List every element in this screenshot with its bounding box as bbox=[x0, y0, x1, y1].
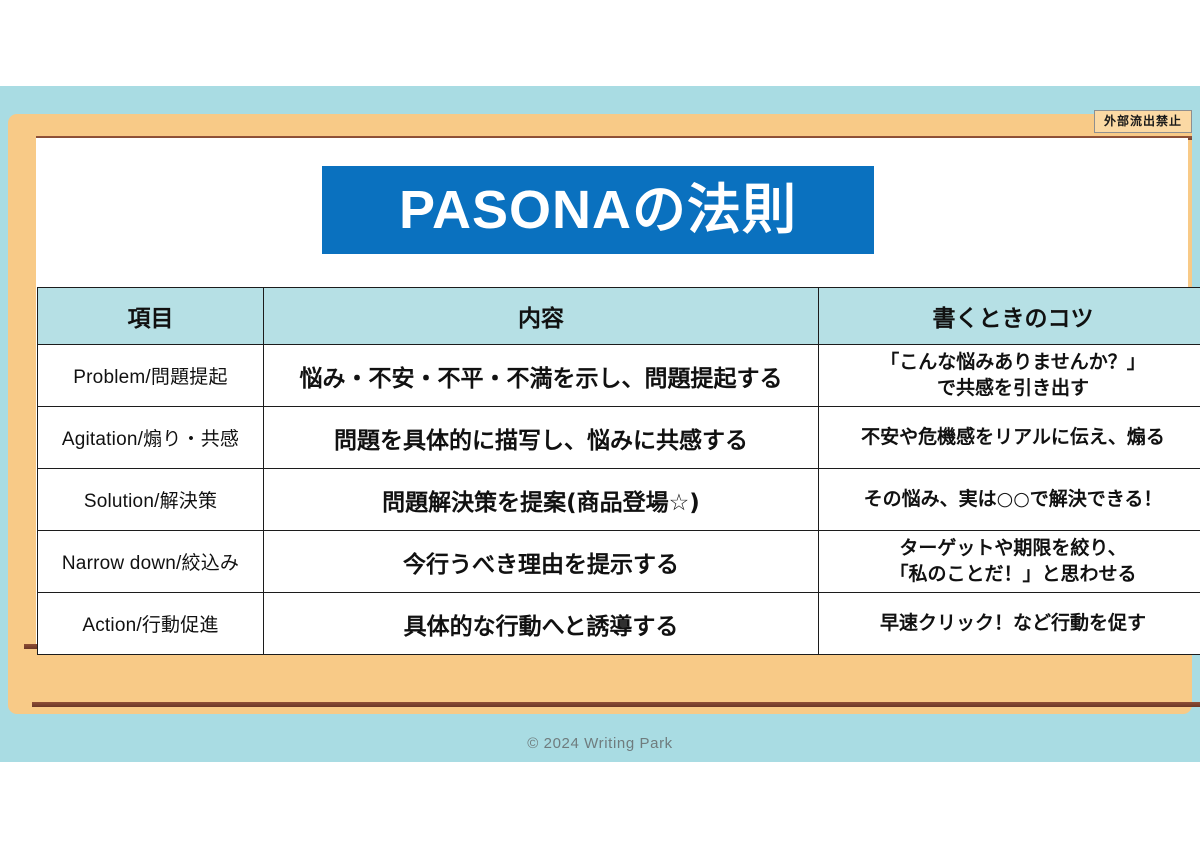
cell-tips-line2: 「私のことだ！」と思わせる bbox=[825, 562, 1200, 588]
cell-tips-line1: 不安や危機感をリアルに伝え、煽る bbox=[861, 426, 1165, 448]
cell-tips-line1: その悩み、実は○○で解決できる！ bbox=[864, 488, 1163, 510]
cell-item: Solution/解決策 bbox=[38, 469, 264, 531]
cell-tips: ターゲットや期限を絞り、 「私のことだ！」と思わせる bbox=[819, 531, 1200, 593]
whiteboard-bottom-rail bbox=[32, 702, 1200, 707]
cell-description: 問題解決策を提案(商品登場☆) bbox=[264, 469, 819, 531]
cell-tips: 「こんな悩みありませんか？」 で共感を引き出す bbox=[819, 345, 1200, 407]
cell-tips: 不安や危機感をリアルに伝え、煽る bbox=[819, 407, 1200, 469]
table-row: Narrow down/絞込み 今行うべき理由を提示する ターゲットや期限を絞り… bbox=[38, 531, 1200, 593]
cell-tips-line1: ターゲットや期限を絞り、 bbox=[899, 537, 1126, 559]
table-row: Action/行動促進 具体的な行動へと誘導する 早速クリック！など行動を促す bbox=[38, 593, 1200, 655]
cell-tips: 早速クリック！など行動を促す bbox=[819, 593, 1200, 655]
table-row: Problem/問題提起 悩み・不安・不平・不満を示し、問題提起する 「こんな悩… bbox=[38, 345, 1200, 407]
cell-tips-line1: 「こんな悩みありませんか？」 bbox=[880, 351, 1145, 373]
slide-canvas: 外部流出禁止 PASONAの法則 項目 内容 書くときのコツ Problem/問… bbox=[0, 0, 1200, 849]
confidential-badge: 外部流出禁止 bbox=[1094, 110, 1192, 133]
cell-tips-line1: 早速クリック！など行動を促す bbox=[880, 612, 1146, 634]
pasona-table: 項目 内容 書くときのコツ Problem/問題提起 悩み・不安・不平・不満を示… bbox=[37, 287, 1200, 655]
cell-description: 今行うべき理由を提示する bbox=[264, 531, 819, 593]
column-header-item: 項目 bbox=[38, 288, 264, 345]
title-banner: PASONAの法則 bbox=[322, 166, 874, 254]
cell-tips: その悩み、実は○○で解決できる！ bbox=[819, 469, 1200, 531]
cell-item: Problem/問題提起 bbox=[38, 345, 264, 407]
cell-description: 問題を具体的に描写し、悩みに共感する bbox=[264, 407, 819, 469]
cell-item: Action/行動促進 bbox=[38, 593, 264, 655]
table-header-row: 項目 内容 書くときのコツ bbox=[38, 288, 1200, 345]
column-header-tips: 書くときのコツ bbox=[819, 288, 1200, 345]
page-title: PASONAの法則 bbox=[399, 183, 797, 237]
copyright-footer: © 2024 Writing Park bbox=[0, 735, 1200, 752]
cell-description: 具体的な行動へと誘導する bbox=[264, 593, 819, 655]
cell-item: Agitation/煽り・共感 bbox=[38, 407, 264, 469]
table-row: Agitation/煽り・共感 問題を具体的に描写し、悩みに共感する 不安や危機… bbox=[38, 407, 1200, 469]
column-header-description: 内容 bbox=[264, 288, 819, 345]
cell-item: Narrow down/絞込み bbox=[38, 531, 264, 593]
cell-tips-line2: で共感を引き出す bbox=[825, 376, 1200, 402]
table-row: Solution/解決策 問題解決策を提案(商品登場☆) その悩み、実は○○で解… bbox=[38, 469, 1200, 531]
cell-description: 悩み・不安・不平・不満を示し、問題提起する bbox=[264, 345, 819, 407]
